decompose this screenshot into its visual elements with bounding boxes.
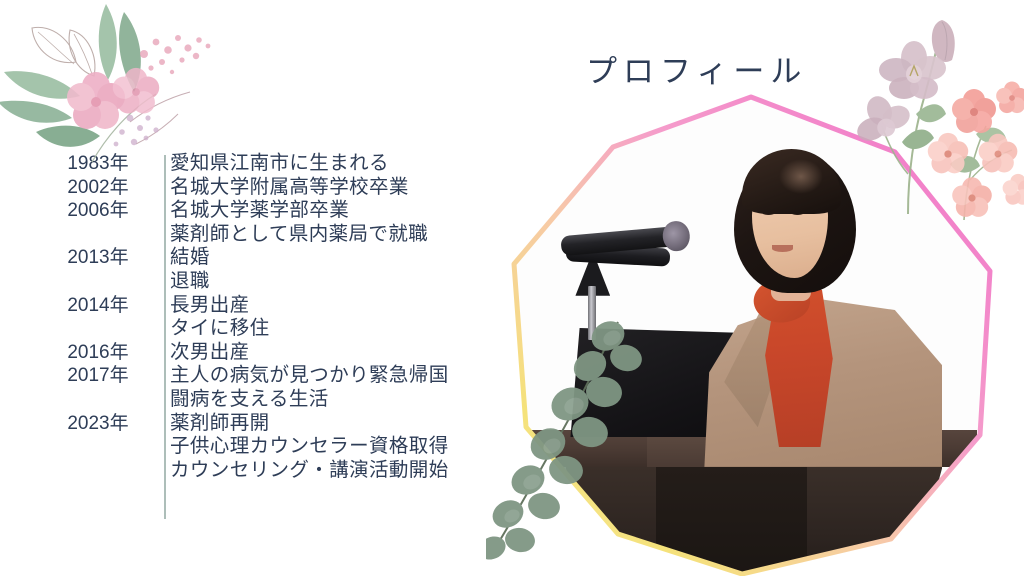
event-cell: 主人の病気が見つかり緊急帰国 xyxy=(148,364,518,388)
event-cell: 退職 xyxy=(148,270,518,294)
microphone-pole xyxy=(588,286,596,341)
event-cell: カウンセリング・講演活動開始 xyxy=(148,459,518,483)
event-cell: 名城大学薬学部卒業 xyxy=(148,199,518,223)
event-cell: 薬剤師再開 xyxy=(148,412,518,436)
table-row: カウンセリング・講演活動開始 xyxy=(48,459,518,483)
table-row: 2016年 次男出産 xyxy=(48,341,518,365)
table-row: 薬剤師として県内薬局で就職 xyxy=(48,223,518,247)
year-cell: 2014年 xyxy=(48,294,148,318)
event-cell: タイに移住 xyxy=(148,317,518,341)
year-cell: 2016年 xyxy=(48,341,148,365)
year-cell: 2006年 xyxy=(48,199,148,223)
event-cell: 愛知県江南市に生まれる xyxy=(148,152,518,176)
podium-body xyxy=(566,467,943,576)
table-row: 2013年 結婚 xyxy=(48,246,518,270)
table-row: 闘病を支える生活 xyxy=(48,388,518,412)
table-row: 2023年 薬剤師再開 xyxy=(48,412,518,436)
event-cell: 名城大学附属高等学校卒業 xyxy=(148,176,518,200)
table-row: 退職 xyxy=(48,270,518,294)
table-row: 1983年 愛知県江南市に生まれる xyxy=(48,152,518,176)
year-cell: 1983年 xyxy=(48,152,148,176)
profile-timeline: 1983年 愛知県江南市に生まれる 2002年 名城大学附属高等学校卒業 200… xyxy=(48,152,518,482)
year-cell: 2002年 xyxy=(48,176,148,200)
event-cell: 薬剤師として県内薬局で就職 xyxy=(148,223,518,247)
table-row: 2002年 名城大学附属高等学校卒業 xyxy=(48,176,518,200)
year-cell: 2023年 xyxy=(48,412,148,436)
year-cell: 2013年 xyxy=(48,246,148,270)
event-cell: 次男出産 xyxy=(148,341,518,365)
table-row: 2014年 長男出産 xyxy=(48,294,518,318)
event-cell: 子供心理カウンセラー資格取得 xyxy=(148,435,518,459)
speaker-mouth xyxy=(772,245,793,252)
table-row: 2006年 名城大学薬学部卒業 xyxy=(48,199,518,223)
table-row: 子供心理カウンセラー資格取得 xyxy=(48,435,518,459)
year-cell: 2017年 xyxy=(48,364,148,388)
speaker-photo xyxy=(506,80,1002,576)
event-cell: 長男出産 xyxy=(148,294,518,318)
profile-slide: プロフィール xyxy=(0,0,1024,576)
table-row: タイに移住 xyxy=(48,317,518,341)
speaker-photo-frame xyxy=(506,80,1002,576)
table-row: 2017年 主人の病気が見つかり緊急帰国 xyxy=(48,364,518,388)
event-cell: 闘病を支える生活 xyxy=(148,388,518,412)
event-cell: 結婚 xyxy=(148,246,518,270)
